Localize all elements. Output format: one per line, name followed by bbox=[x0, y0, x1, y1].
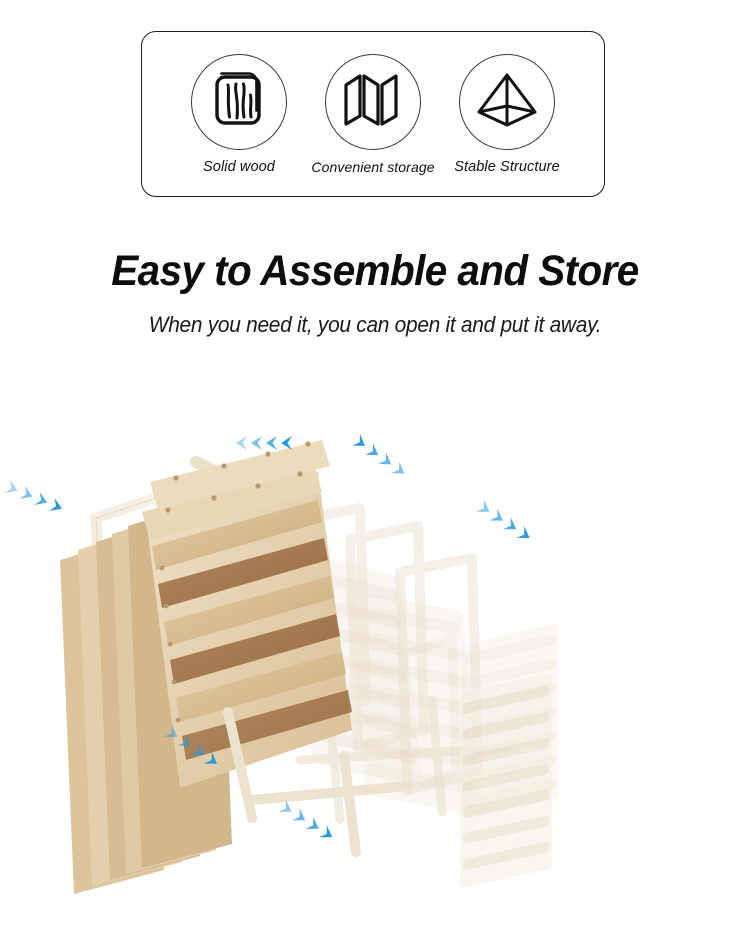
product-illustration bbox=[0, 400, 750, 900]
feature-solid-wood: Solid wood bbox=[172, 54, 306, 175]
wood-plank-icon bbox=[212, 71, 266, 134]
ghost-stool-front-panel bbox=[460, 672, 552, 888]
feature-label: Convenient storage bbox=[311, 159, 434, 175]
pyramid-icon bbox=[475, 71, 539, 134]
arrow-top-right-outward bbox=[352, 434, 408, 479]
feature-list: Solid wood Convenient storage bbox=[142, 32, 604, 196]
feature-icon-circle bbox=[325, 54, 421, 150]
feature-stable-structure: Stable Structure bbox=[440, 54, 574, 175]
feature-card: Solid wood Convenient storage bbox=[141, 31, 605, 197]
arrow-bottom-center bbox=[279, 800, 336, 843]
feature-icon-circle bbox=[191, 54, 287, 150]
page-title: Easy to Assemble and Store bbox=[23, 247, 728, 296]
feature-icon-circle bbox=[459, 54, 555, 150]
feature-label: Stable Structure bbox=[454, 159, 560, 175]
page-subtitle: When you need it, you can open it and pu… bbox=[19, 312, 732, 338]
arrow-top-left-inward bbox=[236, 436, 292, 450]
feature-label: Solid wood bbox=[203, 159, 275, 175]
arrow-right-outward bbox=[476, 500, 533, 544]
product-feature-banner: Solid wood Convenient storage bbox=[0, 0, 750, 944]
folding-panels-icon bbox=[342, 71, 404, 134]
folding-stool-graphic bbox=[0, 400, 750, 900]
feature-convenient-storage: Convenient storage bbox=[306, 54, 440, 175]
